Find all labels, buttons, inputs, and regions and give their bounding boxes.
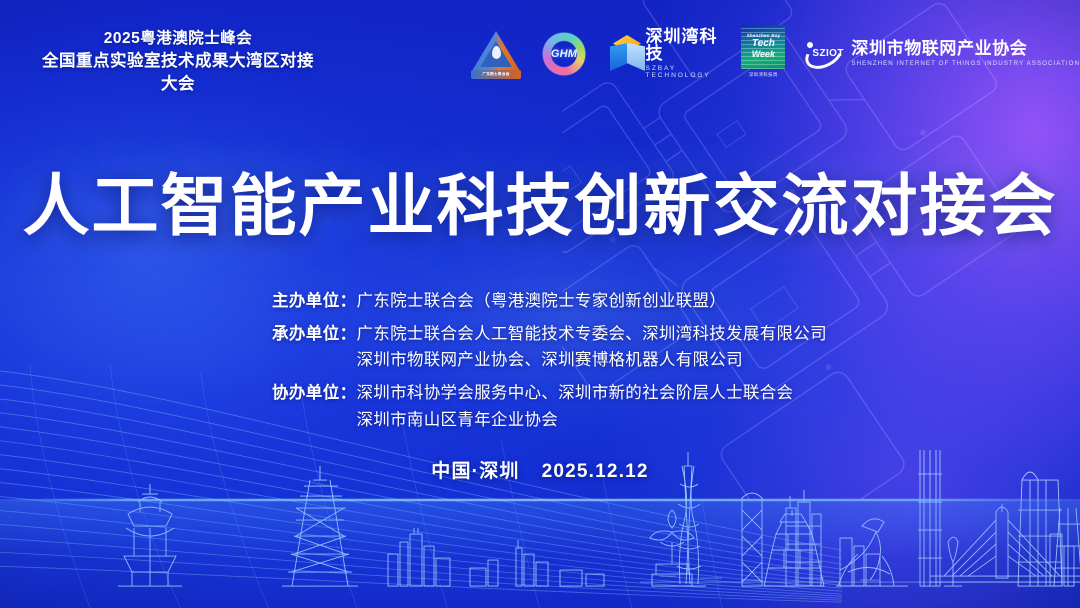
sziot-logo-en: SHENZHEN INTERNET OF THINGS INDUSTRY ASS… (851, 61, 1080, 67)
organizer-label-coorganizer: 承办单位： (272, 321, 357, 374)
event-place: 中国·深圳 (431, 461, 519, 482)
szbay-technology-logo: 深圳湾科技 SZBAY TECHNOLOGY (606, 26, 722, 82)
banner-header: 2025粤港澳院士峰会 全国重点实验室技术成果大湾区对接大会 广东院士联合会 G… (0, 0, 1080, 105)
event-subtitle-line2: 全国重点实验室技术成果大湾区对接大会 (38, 50, 318, 97)
shenzhen-bay-tech-week-logo: Shenzhen Bay Tech Week 深圳湾科技周 (740, 26, 786, 82)
organizer-row-coorganizer: 承办单位： 广东院士联合会人工智能技术专委会、深圳湾科技发展有限公司 深圳市物联… (272, 321, 827, 374)
event-date: 2025.12.12 (542, 461, 649, 482)
organizers-block: 主办单位： 广东院士联合会（粤港澳院士专家创新创业联盟） 承办单位： 广东院士联… (272, 288, 827, 440)
organizer-row-host: 主办单位： 广东院士联合会（粤港澳院士专家创新创业联盟） (272, 288, 827, 315)
organizer-value-host: 广东院士联合会（粤港澳院士专家创新创业联盟） (357, 288, 727, 315)
sziot-swirl-icon: SZIOT (804, 37, 844, 71)
page-title: 人工智能产业科技创新交流对接会 (0, 152, 1080, 249)
organizer-value-supporter: 深圳市科协学会服务中心、深圳市新的社会阶层人士联合会 深圳市南山区青年企业协会 (357, 380, 794, 433)
organizer-coorganizer-line2: 深圳市物联网产业协会、深圳赛博格机器人有限公司 (357, 347, 827, 374)
ghm-logo-text: GHM (540, 30, 588, 78)
partner-logo-strip: 广东院士联合会 GHM 深圳湾科技 SZBAY TECHNOLOGY (470, 25, 1080, 83)
organizer-row-supporter: 协办单位： 深圳市科协学会服务中心、深圳市新的社会阶层人士联合会 深圳市南山区青… (272, 380, 827, 433)
tech-week-line3: Week (752, 50, 775, 60)
water-reflection (0, 499, 1080, 608)
organizer-label-supporter: 协办单位： (272, 380, 357, 433)
organizer-coorganizer-line1: 广东院士联合会人工智能技术专委会、深圳湾科技发展有限公司 (357, 321, 827, 348)
organizer-host-line1: 广东院士联合会（粤港澳院士专家创新创业联盟） (357, 288, 727, 315)
event-subtitle-block: 2025粤港澳院士峰会 全国重点实验室技术成果大湾区对接大会 (38, 28, 318, 97)
event-banner: 2025粤港澳院士峰会 全国重点实验室技术成果大湾区对接大会 广东院士联合会 G… (0, 0, 1080, 608)
event-place-date: 中国·深圳2025.12.12 (0, 456, 1080, 483)
sziot-logo-cn: 深圳市物联网产业协会 (851, 40, 1080, 57)
szbay-logo-cn: 深圳湾科技 (646, 28, 723, 62)
organizer-supporter-line2: 深圳市南山区青年企业协会 (357, 407, 794, 434)
event-subtitle-line1: 2025粤港澳院士峰会 (38, 28, 318, 50)
organizer-supporter-line1: 深圳市科协学会服务中心、深圳市新的社会阶层人士联合会 (357, 380, 794, 407)
sziot-logo: SZIOT 深圳市物联网产业协会 SHENZHEN INTERNET OF TH… (804, 26, 1080, 82)
szbay-cube-icon (606, 32, 639, 76)
sziot-mark-text: SZIOT (812, 48, 843, 59)
organizer-value-coorganizer: 广东院士联合会人工智能技术专委会、深圳湾科技发展有限公司 深圳市物联网产业协会、… (357, 321, 827, 374)
organizer-label-host: 主办单位： (272, 288, 357, 315)
ghm-logo: GHM (540, 26, 588, 82)
szbay-logo-en: SZBAY TECHNOLOGY (646, 66, 723, 79)
tech-week-cn: 深圳湾科技周 (749, 72, 778, 78)
guangdong-academicians-union-logo-text: 广东院士联合会 (471, 70, 521, 79)
guangdong-academicians-union-logo: 广东院士联合会 (470, 26, 522, 82)
